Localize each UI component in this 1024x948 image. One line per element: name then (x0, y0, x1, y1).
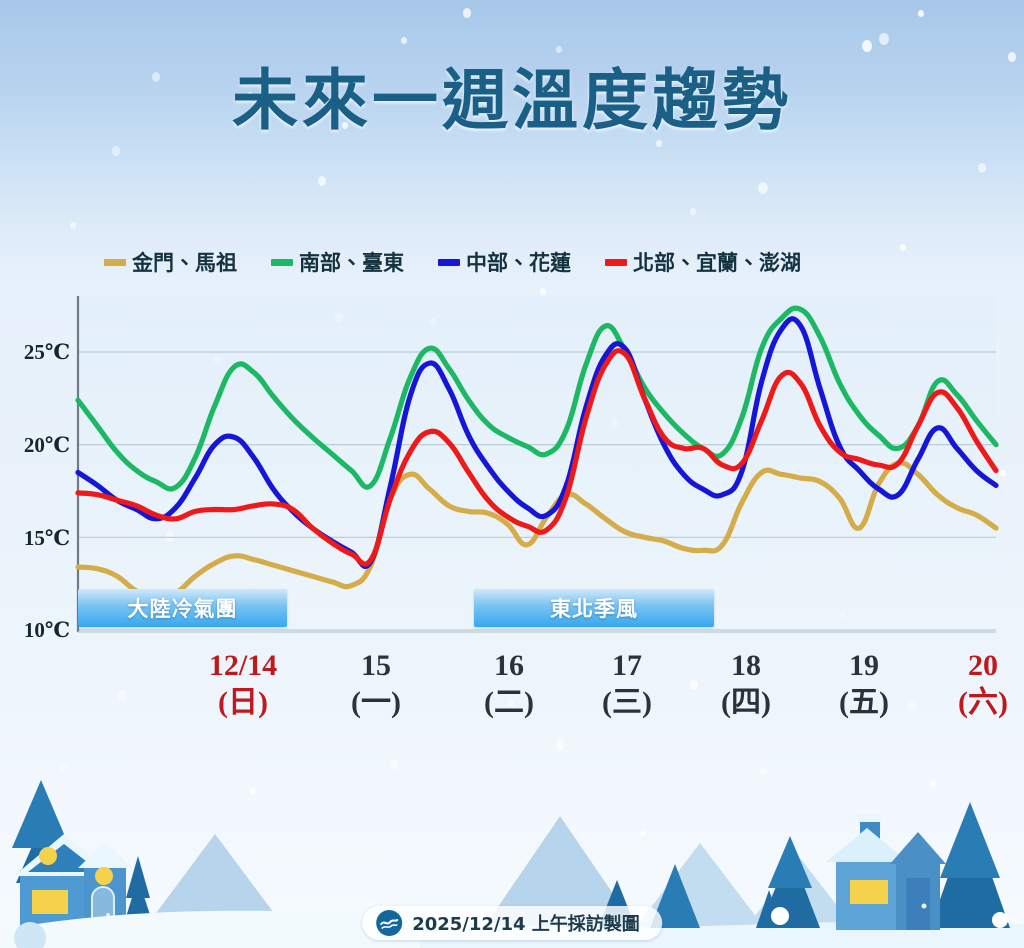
date-num-19: 19 (804, 648, 924, 684)
date-num-1214: 12/14 (183, 648, 303, 684)
snowball-right-2 (992, 912, 1008, 928)
right-house-window (850, 880, 888, 904)
annotation-label-northeast-monsoon: 東北季風 (550, 593, 638, 623)
y-tick-25: 25℃ (8, 352, 70, 353)
tree-right-1-top (768, 836, 812, 888)
left-house-window (32, 890, 68, 914)
date-col-17[interactable]: 17 (三) (567, 648, 687, 722)
date-col-1214[interactable]: 12/14 (日) (183, 648, 303, 722)
date-col-19[interactable]: 19 (五) (804, 648, 924, 722)
date-col-20[interactable]: 20 (六) (923, 648, 1024, 722)
cwa-logo-icon (376, 910, 402, 936)
tree-right-2-top (940, 802, 1000, 878)
date-num-17: 17 (567, 648, 687, 684)
date-day-18: (四) (686, 684, 806, 722)
date-day-16: (二) (449, 684, 569, 722)
date-day-20: (六) (923, 684, 1024, 722)
left-house-attic-window (39, 847, 57, 865)
snowball-right-1 (771, 907, 789, 925)
annotation-label-continental-cold-air-mass: 大陸冷氣團 (128, 593, 238, 623)
date-col-16[interactable]: 16 (二) (449, 648, 569, 722)
tree-left-front-top (126, 856, 150, 898)
date-day-19: (五) (804, 684, 924, 722)
y-tick-20: 20℃ (8, 445, 70, 446)
footer-credit: 2025/12/14 上午採訪製圖 (362, 906, 662, 940)
date-col-18[interactable]: 18 (四) (686, 648, 806, 722)
right-house-roof-snow (826, 828, 908, 862)
annotation-bar-northeast-monsoon[interactable]: 東北季風 (474, 589, 714, 627)
left-house-round-window (95, 867, 113, 885)
date-num-20: 20 (923, 648, 1024, 684)
date-day-1214: (日) (183, 684, 303, 722)
series-line-北部、宜蘭、澎湖 (78, 351, 996, 564)
date-day-17: (三) (567, 684, 687, 722)
footer-text: 2025/12/14 上午採訪製圖 (412, 910, 640, 936)
y-tick-15: 15℃ (8, 538, 70, 539)
date-col-15[interactable]: 15 (一) (316, 648, 436, 722)
x-axis-dates: 12/14 (日) 15 (一) 16 (二) 17 (三) 18 (四) 19… (78, 648, 996, 732)
date-num-16: 16 (449, 648, 569, 684)
right-house-doorknob (922, 904, 927, 909)
y-tick-10: 10℃ (8, 630, 70, 631)
weather-chart-page: 未來一週溫度趨勢 金門、馬祖 南部、臺東 中部、花蓮 北部、宜蘭、澎湖 25℃ … (0, 0, 1024, 948)
right-house-door (906, 878, 930, 930)
date-num-15: 15 (316, 648, 436, 684)
right-house-chimney-snow (858, 814, 882, 822)
annotation-bar-continental-cold-air-mass[interactable]: 大陸冷氣團 (78, 589, 287, 627)
date-num-18: 18 (686, 648, 806, 684)
date-day-15: (一) (316, 684, 436, 722)
right-house-wing-roof (890, 832, 946, 864)
